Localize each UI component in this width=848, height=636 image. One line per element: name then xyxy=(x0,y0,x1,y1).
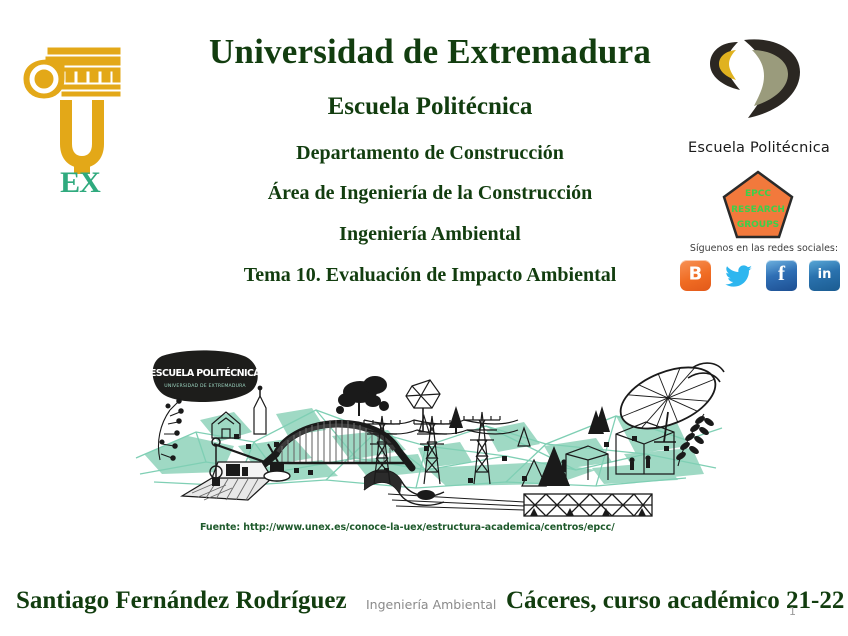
page-number: 1 xyxy=(789,605,796,618)
uex-letter-ex: EX xyxy=(60,166,101,194)
subtitle-topic: Tema 10. Evaluación de Impacto Ambiental xyxy=(150,264,710,286)
illustration-svg: ESCUELA POLITÉCNICA UNIVERSIDAD DE EXTRE… xyxy=(126,350,726,522)
page-title: Universidad de Extremadura xyxy=(150,34,710,71)
svg-text:UNIVERSIDAD DE EXTREMADURA: UNIVERSIDAD DE EXTREMADURA xyxy=(164,383,246,389)
blogger-icon[interactable] xyxy=(680,260,711,291)
uex-logo-svg: EX xyxy=(18,34,138,194)
tree-blobs xyxy=(336,376,389,416)
svg-text:ESCUELA POLITÉCNICA: ESCUELA POLITÉCNICA xyxy=(150,367,261,379)
subtitle-course: Ingeniería Ambiental xyxy=(150,223,710,245)
subtitle-department: Departamento de Construcción xyxy=(150,142,710,164)
escuela-politecnica-caption: Escuela Politécnica xyxy=(683,140,835,156)
winding-road xyxy=(364,470,444,505)
universidad-de-extremadura-logo: EX xyxy=(18,34,138,194)
escuela-politecnica-logo xyxy=(700,30,810,122)
footer-subject: Ingeniería Ambiental xyxy=(366,597,496,612)
epcc-badge-svg: EPCC RESEARCH GROUPS xyxy=(722,170,794,240)
escuela-politecnica-blob-badge: ESCUELA POLITÉCNICA UNIVERSIDAD DE EXTRE… xyxy=(150,350,261,402)
epcc-badge-line1: EPCC xyxy=(745,189,771,199)
subtitle-area: Área de Ingeniería de la Construcción xyxy=(150,182,710,204)
footer-author: Santiago Fernández Rodríguez xyxy=(16,587,347,615)
social-media-label: Síguenos en las redes sociales: xyxy=(686,243,842,254)
epcc-badge-line3: GROUPS xyxy=(737,220,779,230)
linkedin-icon[interactable] xyxy=(809,260,840,291)
uex-letter-u xyxy=(60,100,104,168)
campus-engineering-illustration: ESCUELA POLITÉCNICA UNIVERSIDAD DE EXTRE… xyxy=(126,350,726,522)
facebook-icon[interactable] xyxy=(766,260,797,291)
slide-canvas: EX Universidad de Extremadura Escuela Po… xyxy=(0,0,848,636)
escuela-politecnica-logo-svg xyxy=(700,30,810,122)
social-media-icons xyxy=(680,258,840,292)
epcc-research-groups-badge: EPCC RESEARCH GROUPS xyxy=(722,170,794,240)
epcc-badge-line2: RESEARCH xyxy=(731,205,785,215)
subtitle-school: Escuela Politécnica xyxy=(150,93,710,121)
slide-title-block: Universidad de Extremadura Escuela Polit… xyxy=(150,34,710,286)
twitter-bird-svg xyxy=(723,260,754,291)
source-caption: Fuente: http://www.unex.es/conoce-la-uex… xyxy=(200,522,615,533)
twitter-icon[interactable] xyxy=(723,260,754,291)
